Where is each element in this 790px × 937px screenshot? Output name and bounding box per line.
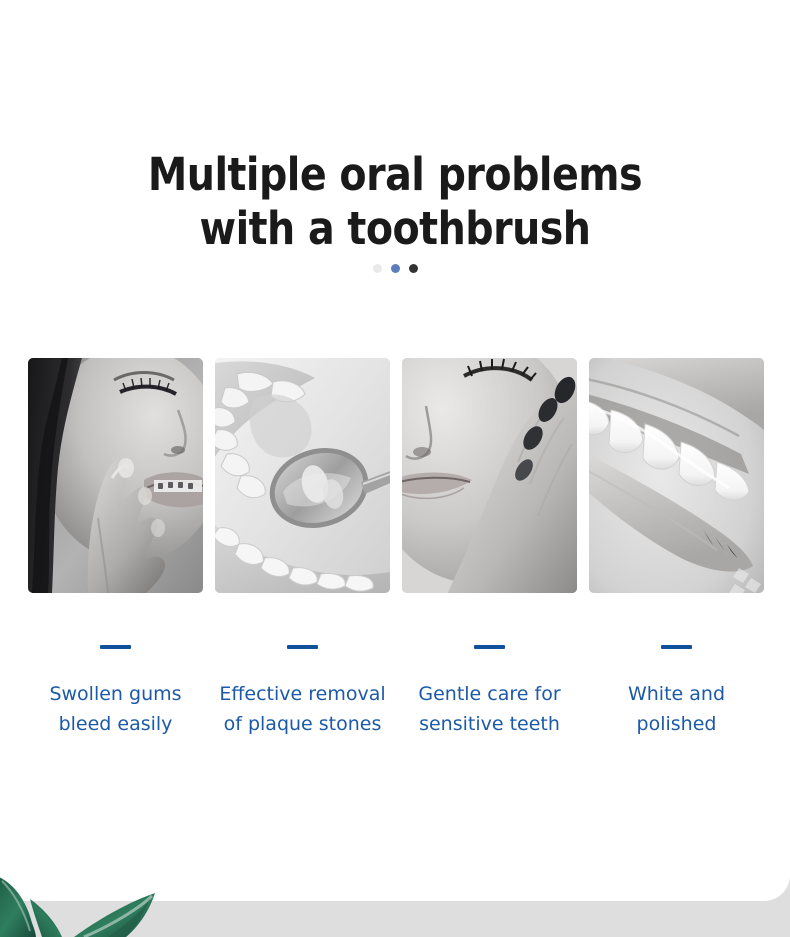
caption-accent-rule-4 [661, 645, 692, 649]
feature-image-3[interactable] [402, 358, 577, 593]
page-title-line-1: Multiple oral problems [148, 148, 642, 201]
caption-text-2: Effective removal of plaque stones [215, 679, 390, 739]
caption-text-1: Swollen gums bleed easily [28, 679, 203, 739]
caption-accent-rule-1 [100, 645, 131, 649]
caption-text-4: White and polished [589, 679, 764, 739]
bottom-gray-band [0, 901, 790, 937]
content-card: Multiple oral problemswith a toothbrush [0, 0, 790, 901]
feature-caption-3: Gentle care for sensitive teeth [402, 645, 577, 739]
caption-text-3: Gentle care for sensitive teeth [402, 679, 577, 739]
feature-caption-4: White and polished [589, 645, 764, 739]
caption-accent-rule-3 [474, 645, 505, 649]
carousel-pager[interactable] [0, 264, 790, 273]
carousel-dot-1[interactable] [373, 264, 382, 273]
product-detail-page: Multiple oral problemswith a toothbrush [0, 0, 790, 937]
feature-image-4[interactable] [589, 358, 764, 593]
page-title-line-2: with a toothbrush [47, 202, 742, 256]
feature-image-row [28, 358, 762, 593]
carousel-dot-2[interactable] [391, 264, 400, 273]
carousel-dot-3[interactable] [409, 264, 418, 273]
feature-image-1[interactable] [28, 358, 203, 593]
feature-caption-1: Swollen gums bleed easily [28, 645, 203, 739]
feature-caption-row: Swollen gums bleed easily Effective remo… [28, 645, 762, 739]
page-title: Multiple oral problemswith a toothbrush [47, 148, 742, 256]
feature-image-2[interactable] [215, 358, 390, 593]
caption-accent-rule-2 [287, 645, 318, 649]
feature-caption-2: Effective removal of plaque stones [215, 645, 390, 739]
